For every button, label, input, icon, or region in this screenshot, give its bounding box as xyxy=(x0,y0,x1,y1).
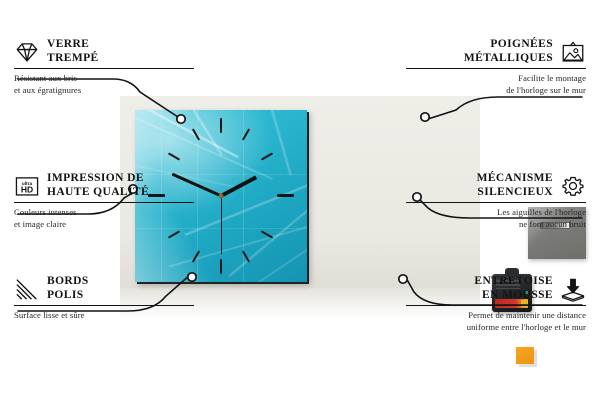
feature-desc-line1: Facilite le montage xyxy=(518,73,586,83)
ultra-hd-icon-label-bottom: HD xyxy=(21,184,33,194)
feature-title: BORDS POLIS xyxy=(47,275,89,302)
feature-title-line1: ENTRETOISE xyxy=(474,275,553,287)
feature-desc-line1: Permet de maintenir une distance xyxy=(468,310,586,320)
feature-poignees-metalliques[interactable]: POIGNÉES MÉTALLIQUES Facilite le montage… xyxy=(406,38,586,96)
feature-desc-line2: et image claire xyxy=(14,219,66,229)
feature-title-line2: POLIS xyxy=(47,289,84,301)
feature-title: VERRE TREMPÉ xyxy=(47,38,99,65)
feature-title: POIGNÉES MÉTALLIQUES xyxy=(464,38,553,65)
foam-spacer xyxy=(516,347,534,364)
feature-desc-line1: Les aiguilles de l'horloge xyxy=(497,207,586,217)
feature-mecanisme-silencieux[interactable]: MÉCANISME SILENCIEUX Les aiguilles de l'… xyxy=(406,172,586,230)
picture-frame-icon xyxy=(560,39,586,65)
feature-header: ENTRETOISE EN MOUSSE xyxy=(406,275,586,302)
feature-impression-haute-qualite[interactable]: ultra HD IMPRESSION DE HAUTE QUALITÉ Cou… xyxy=(14,172,194,230)
feature-title-line2: TREMPÉ xyxy=(47,52,99,64)
clock-tick xyxy=(220,259,222,274)
feature-title-line2: HAUTE QUALITÉ xyxy=(47,186,149,198)
feature-divider xyxy=(406,305,586,306)
feature-header: ultra HD IMPRESSION DE HAUTE QUALITÉ xyxy=(14,172,194,199)
feature-header: VERRE TREMPÉ xyxy=(14,38,194,65)
feature-desc-line1: Couleurs intenses xyxy=(14,207,77,217)
feature-bords-polis[interactable]: BORDS POLIS Surface lisse et sûre xyxy=(14,275,194,322)
clock-tick xyxy=(277,194,294,197)
feature-desc-line2: ne font aucun bruit xyxy=(519,219,586,229)
feature-desc-line2: et aux égratignures xyxy=(14,85,81,95)
clock-tick xyxy=(220,118,222,133)
feature-title-line1: IMPRESSION DE xyxy=(47,172,144,184)
feature-divider xyxy=(406,202,586,203)
feature-title-line2: MÉTALLIQUES xyxy=(464,52,553,64)
feature-header: MÉCANISME SILENCIEUX xyxy=(406,172,586,199)
feature-entretoise-en-mousse[interactable]: ENTRETOISE EN MOUSSE Permet de maintenir… xyxy=(406,275,586,333)
clock-second-hand xyxy=(221,196,223,254)
feature-title: IMPRESSION DE HAUTE QUALITÉ xyxy=(47,172,149,199)
ultra-hd-icon: ultra HD xyxy=(14,173,40,199)
feature-title-line2: EN MOUSSE xyxy=(482,289,553,301)
feature-verre-trempe[interactable]: VERRE TREMPÉ Résistant aux bris et aux é… xyxy=(14,38,194,96)
diamond-icon xyxy=(14,39,40,65)
feature-divider xyxy=(14,305,194,306)
gear-icon xyxy=(560,173,586,199)
polished-edge-icon xyxy=(14,276,40,302)
feature-description: Permet de maintenir une distance uniform… xyxy=(406,310,586,333)
clock-tick xyxy=(261,152,273,160)
feature-divider xyxy=(14,202,194,203)
infographic-canvas: VERRE TREMPÉ Résistant aux bris et aux é… xyxy=(0,0,600,400)
feature-divider xyxy=(14,68,194,69)
feature-title-line1: VERRE xyxy=(47,38,89,50)
feature-desc-line2: de l'horloge sur le mur xyxy=(506,85,586,95)
clock-tick xyxy=(168,230,180,238)
feature-header: POIGNÉES MÉTALLIQUES xyxy=(406,38,586,65)
feature-description: Facilite le montage de l'horloge sur le … xyxy=(406,73,586,96)
feature-title-line1: MÉCANISME xyxy=(477,172,553,184)
feature-description: Surface lisse et sûre xyxy=(14,310,194,322)
feature-desc-line2: uniforme entre l'horloge et le mur xyxy=(467,322,586,332)
clock-hour-hand xyxy=(220,175,257,197)
feature-description: Les aiguilles de l'horloge ne font aucun… xyxy=(406,207,586,230)
clock-tick xyxy=(168,152,180,160)
feature-title-line2: SILENCIEUX xyxy=(477,186,553,198)
feature-title-line1: BORDS xyxy=(47,275,89,287)
feature-desc-line1: Résistant aux bris xyxy=(14,73,77,83)
feature-header: BORDS POLIS xyxy=(14,275,194,302)
feature-title-line1: POIGNÉES xyxy=(490,38,553,50)
clock-center-hub xyxy=(219,194,224,199)
feature-description: Résistant aux bris et aux égratignures xyxy=(14,73,194,96)
foam-spacer-icon xyxy=(560,276,586,302)
feature-desc-line1: Surface lisse et sûre xyxy=(14,310,85,320)
feature-description: Couleurs intenses et image claire xyxy=(14,207,194,230)
feature-title: MÉCANISME SILENCIEUX xyxy=(477,172,553,199)
feature-divider xyxy=(406,68,586,69)
feature-title: ENTRETOISE EN MOUSSE xyxy=(474,275,553,302)
